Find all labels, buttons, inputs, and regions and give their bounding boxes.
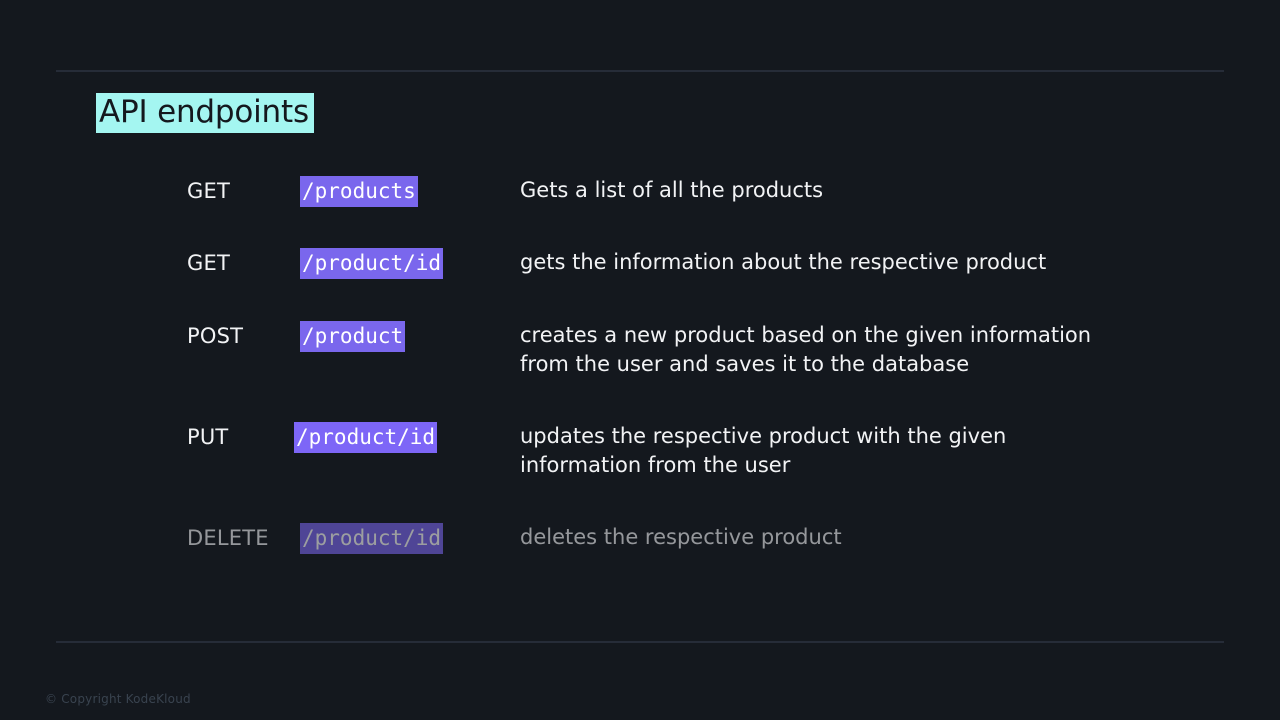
endpoint-path-cell: /product/id bbox=[294, 422, 437, 453]
http-method-label: PUT bbox=[187, 424, 228, 450]
endpoint-description: gets the information about the respectiv… bbox=[520, 248, 1220, 277]
description-line: deletes the respective product bbox=[520, 523, 1220, 552]
endpoint-path: /product/id bbox=[294, 422, 437, 453]
endpoint-path: /product/id bbox=[300, 523, 443, 554]
endpoint-path-cell: /product/id bbox=[300, 248, 443, 279]
endpoint-path-cell: /product bbox=[300, 321, 405, 352]
http-method-label: GET bbox=[187, 178, 230, 204]
endpoint-path: /product/id bbox=[300, 248, 443, 279]
page-title: API endpoints bbox=[96, 93, 314, 133]
description-line: updates the respective product with the … bbox=[520, 422, 1220, 451]
description-line: information from the user bbox=[520, 451, 1220, 480]
endpoint-path-cell: /product/id bbox=[300, 523, 443, 554]
endpoint-description: deletes the respective product bbox=[520, 523, 1220, 552]
endpoint-description: updates the respective product with the … bbox=[520, 422, 1220, 480]
endpoint-path: /product bbox=[300, 321, 405, 352]
top-divider bbox=[56, 70, 1224, 72]
description-line: gets the information about the respectiv… bbox=[520, 248, 1220, 277]
description-line: Gets a list of all the products bbox=[520, 176, 1220, 205]
slide-canvas: API endpoints GET /products Gets a list … bbox=[0, 0, 1280, 720]
copyright-footer: © Copyright KodeKloud bbox=[45, 691, 191, 707]
http-method-label: POST bbox=[187, 323, 243, 349]
endpoint-path: /products bbox=[300, 176, 418, 207]
endpoint-description: Gets a list of all the products bbox=[520, 176, 1220, 205]
http-method-label: GET bbox=[187, 250, 230, 276]
description-line: creates a new product based on the given… bbox=[520, 321, 1220, 350]
endpoint-path-cell: /products bbox=[300, 176, 418, 207]
page-title-text: API endpoints bbox=[96, 93, 314, 133]
endpoint-description: creates a new product based on the given… bbox=[520, 321, 1220, 379]
description-line: from the user and saves it to the databa… bbox=[520, 350, 1220, 379]
http-method-label: DELETE bbox=[187, 525, 269, 551]
bottom-divider bbox=[56, 641, 1224, 643]
